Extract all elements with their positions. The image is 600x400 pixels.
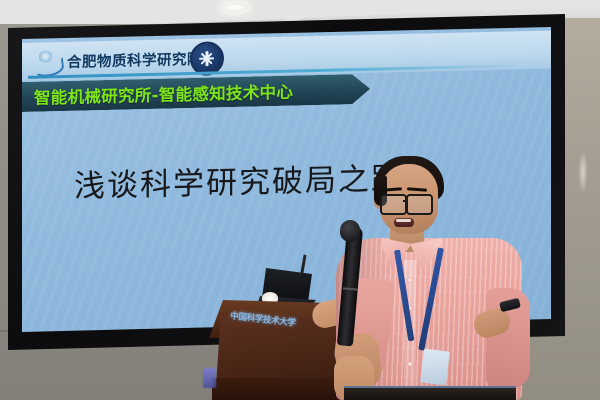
eyeglasses-bridge xyxy=(403,200,407,202)
ceiling-downlight-icon xyxy=(222,3,248,12)
speaker-person xyxy=(330,138,530,400)
id-badge xyxy=(420,349,450,386)
speaker-teeth xyxy=(396,219,411,222)
lotus-swoosh-logo-icon xyxy=(33,50,60,73)
eyeglasses-icon xyxy=(380,194,407,215)
banner-text: 智能机械研究所-智能感知技术中心 xyxy=(34,79,293,109)
org-name: 合肥物质科学研究院 xyxy=(67,47,202,71)
presentation-photo: 合肥物质科学研究院 智能机械研究所-智能感知技术中心 浅谈科学研究破局之路 宋博 xyxy=(0,0,600,400)
bezel-highlight xyxy=(578,150,588,194)
shirt-button xyxy=(408,278,412,282)
shirt-button xyxy=(408,362,412,366)
speaker-belt xyxy=(344,388,516,400)
podium-badge xyxy=(203,368,216,388)
eyeglasses-lens-right xyxy=(406,194,433,215)
